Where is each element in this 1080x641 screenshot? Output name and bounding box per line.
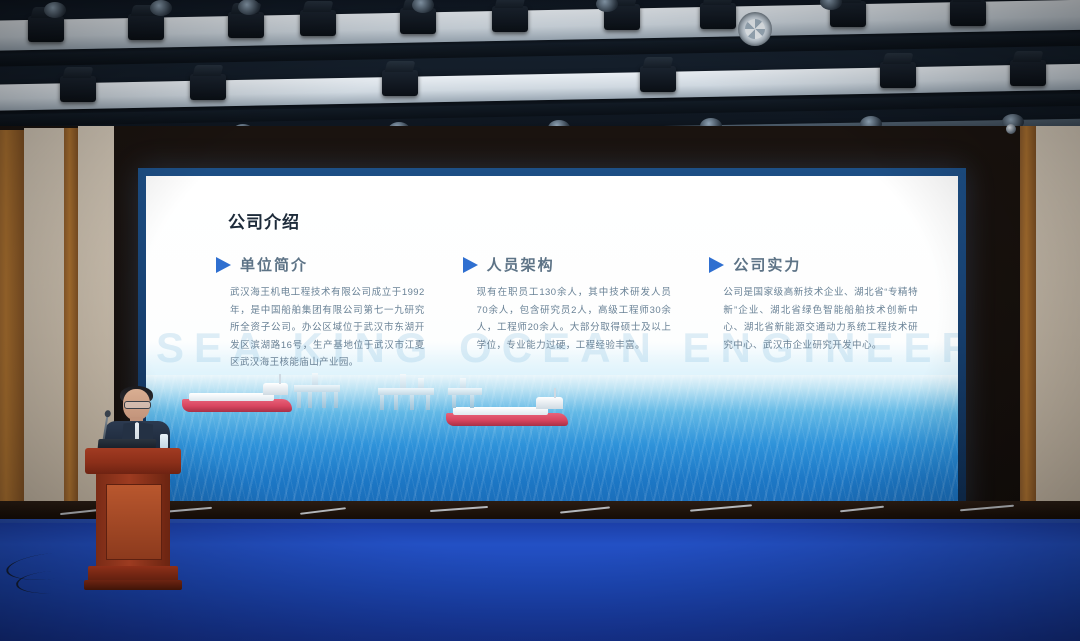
screenshot-root: SEA KING OCEAN ENGINEERING [0,0,1080,641]
stage-light-icon [382,70,418,96]
column-heading: 人员架构 [487,254,555,275]
column-header: 公司实力 [709,254,918,275]
wall-wood-divider-left [64,128,78,546]
triangle-bullet-icon [216,257,231,273]
offshore-platform-a-icon [294,374,340,408]
lectern-top [85,448,181,474]
spotlight-icon [44,2,66,18]
stage-light-icon [492,6,528,32]
ceiling-camera-icon [1006,124,1016,134]
column-header: 人员架构 [463,254,672,275]
wall-wood-panel-left [0,130,24,546]
slide-title: 公司介绍 [228,208,300,233]
column-heading: 单位简介 [240,254,308,275]
offshore-platform-b-icon [378,374,434,410]
slide-columns: 单位简介 武汉海王机电工程技术有限公司成立于1992年，是中国船舶集团有限公司第… [216,254,918,372]
slide-column-company-strength: 公司实力 公司是国家级高新技术企业、湖北省“专精特新”企业、湖北省绿色智能船舶技… [709,254,918,372]
lectern-plinth [84,580,182,590]
stage-light-icon [1010,60,1046,86]
wall-beige-panel-left [24,128,64,546]
vessel-left-icon [182,382,292,412]
stage-light-icon [300,10,336,36]
lectern [90,448,176,593]
wall-beige-panel-right [1036,126,1080,546]
stage-light-icon [228,12,264,38]
presentation-slide: SEA KING OCEAN ENGINEERING [146,176,958,508]
led-display-wall: SEA KING OCEAN ENGINEERING [138,168,966,516]
triangle-bullet-icon [709,257,724,273]
slide-column-staff-structure: 人员架构 现有在职员工130余人，其中技术研发人员70余人，包含研究员2人，高级… [463,254,672,372]
triangle-bullet-icon [463,257,478,273]
column-body-text: 公司是国家级高新技术企业、湖北省“专精特新”企业、湖北省绿色智能船舶技术创新中心… [709,284,918,354]
column-header: 单位简介 [216,254,425,275]
ceiling-fan-icon [738,12,772,46]
column-heading: 公司实力 [733,254,801,275]
stage-light-icon [700,3,736,29]
column-body-text: 武汉海王机电工程技术有限公司成立于1992年，是中国船舶集团有限公司第七一九研究… [216,284,425,372]
offshore-platform-c-icon [448,378,482,408]
presenter-glasses-icon [124,401,151,409]
conference-hall: SEA KING OCEAN ENGINEERING [0,0,1080,641]
lectern-front-panel [106,484,162,560]
stage-light-icon [640,66,676,92]
column-body-text: 现有在职员工130余人，其中技术研发人员70余人，包含研究员2人，高级工程师30… [463,284,672,354]
stage-light-icon [60,76,96,102]
stage-light-icon [950,0,986,26]
stage-light-icon [880,62,916,88]
stage-light-icon [28,16,64,42]
wall-wood-divider-right [1020,126,1036,546]
stage-light-icon [128,14,164,40]
stage-light-icon [190,74,226,100]
ceiling-lighting-rig [0,0,1080,140]
spotlight-icon [150,0,172,16]
led-screen-surface: SEA KING OCEAN ENGINEERING [146,176,958,508]
slide-column-company-profile: 单位简介 武汉海王机电工程技术有限公司成立于1992年，是中国船舶集团有限公司第… [216,254,425,372]
